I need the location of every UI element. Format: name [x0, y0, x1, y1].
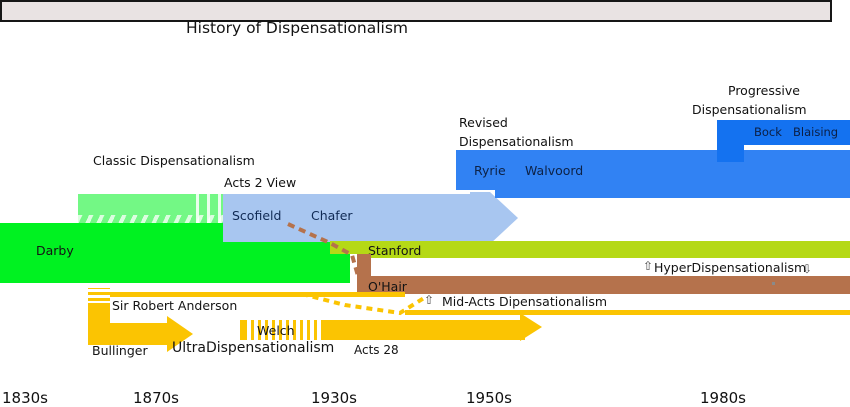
diagram-canvas: History of Dispensationalism Darby Class…: [0, 0, 850, 407]
axis-tick-1870s: 1870s: [133, 389, 179, 407]
connector-lines: [0, 0, 850, 407]
axis-tick-1930s: 1930s: [311, 389, 357, 407]
axis-tick-1950s: 1950s: [466, 389, 512, 407]
axis-tick-1980s: 1980s: [700, 389, 746, 407]
axis-tick-1830s: 1830s: [2, 389, 48, 407]
connector-chafer-to-ohair: [288, 224, 358, 276]
connector-anderson-to-midacts: [302, 294, 424, 313]
